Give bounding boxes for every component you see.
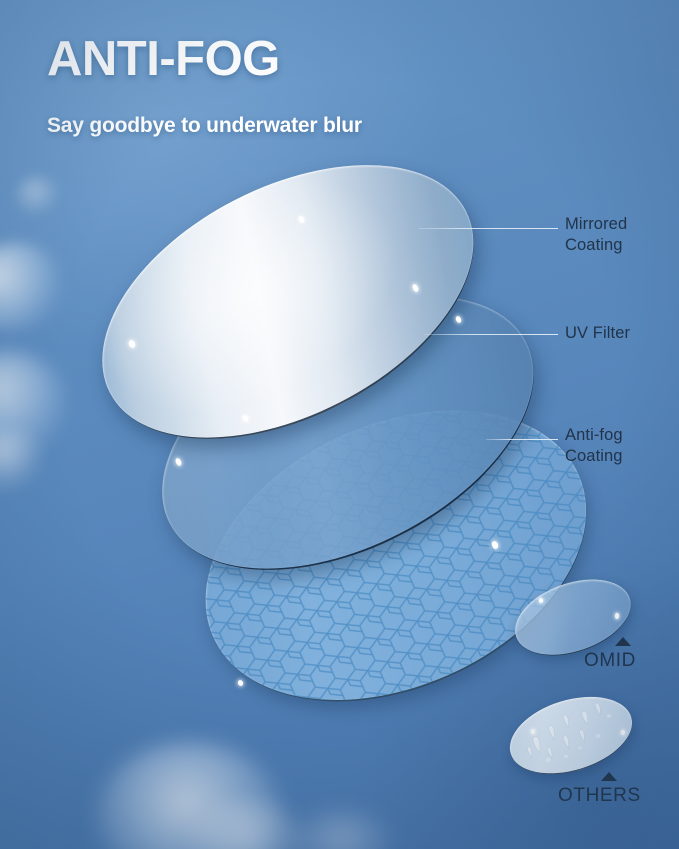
vignette-overlay [0,0,679,849]
product-feature-graphic: ANTI-FOG Say goodbye to underwater blur … [0,0,679,849]
